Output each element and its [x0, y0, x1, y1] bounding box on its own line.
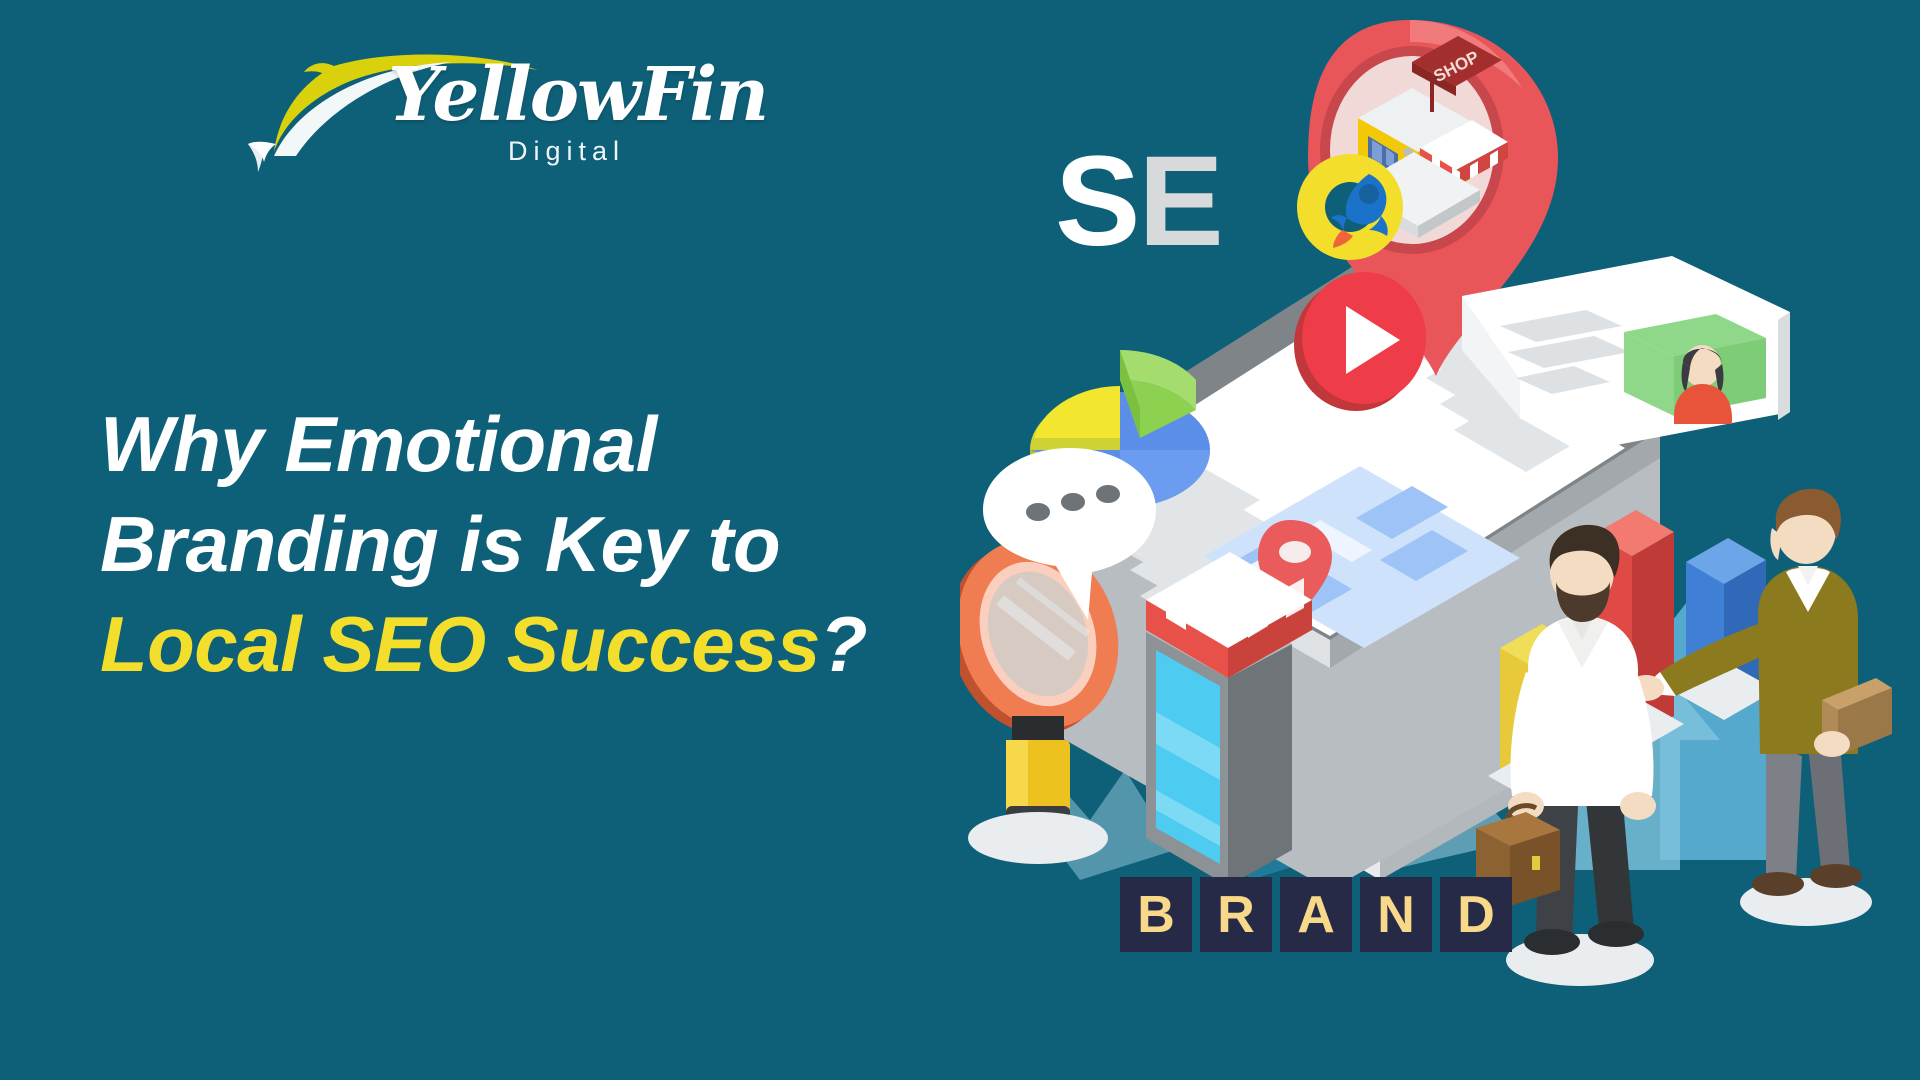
seo-wordmark: SE: [1055, 148, 1222, 256]
brand-tile-d: D: [1440, 877, 1512, 952]
yellowfin-digital-logo[interactable]: YellowFin Digital: [238, 44, 698, 176]
headline-line-3-highlight: Local SEO Success: [100, 600, 820, 688]
headline-question-mark: ?: [820, 600, 867, 688]
headline-line-2: Branding is Key to: [100, 500, 780, 588]
mobile-phone-storefront: [1146, 552, 1312, 886]
banner-canvas: YellowFin Digital Why Emotional Branding…: [0, 0, 1920, 1080]
brand-tile-n: N: [1360, 877, 1432, 952]
headline-line-1: Why Emotional: [100, 400, 657, 488]
brand-tile-a: A: [1280, 877, 1352, 952]
logo-subtitle: Digital: [508, 136, 625, 167]
logo-wordmark: YellowFin: [388, 58, 767, 132]
brand-tile-b: B: [1120, 877, 1192, 952]
seo-letter-e: E: [1138, 130, 1221, 273]
headline: Why Emotional Branding is Key to Local S…: [100, 395, 980, 694]
seo-letter-o-rocket: [1295, 152, 1405, 262]
seo-letter-s: S: [1055, 130, 1138, 273]
brand-tile-r: R: [1200, 877, 1272, 952]
brand-tiles: B R A N D: [1120, 877, 1512, 952]
